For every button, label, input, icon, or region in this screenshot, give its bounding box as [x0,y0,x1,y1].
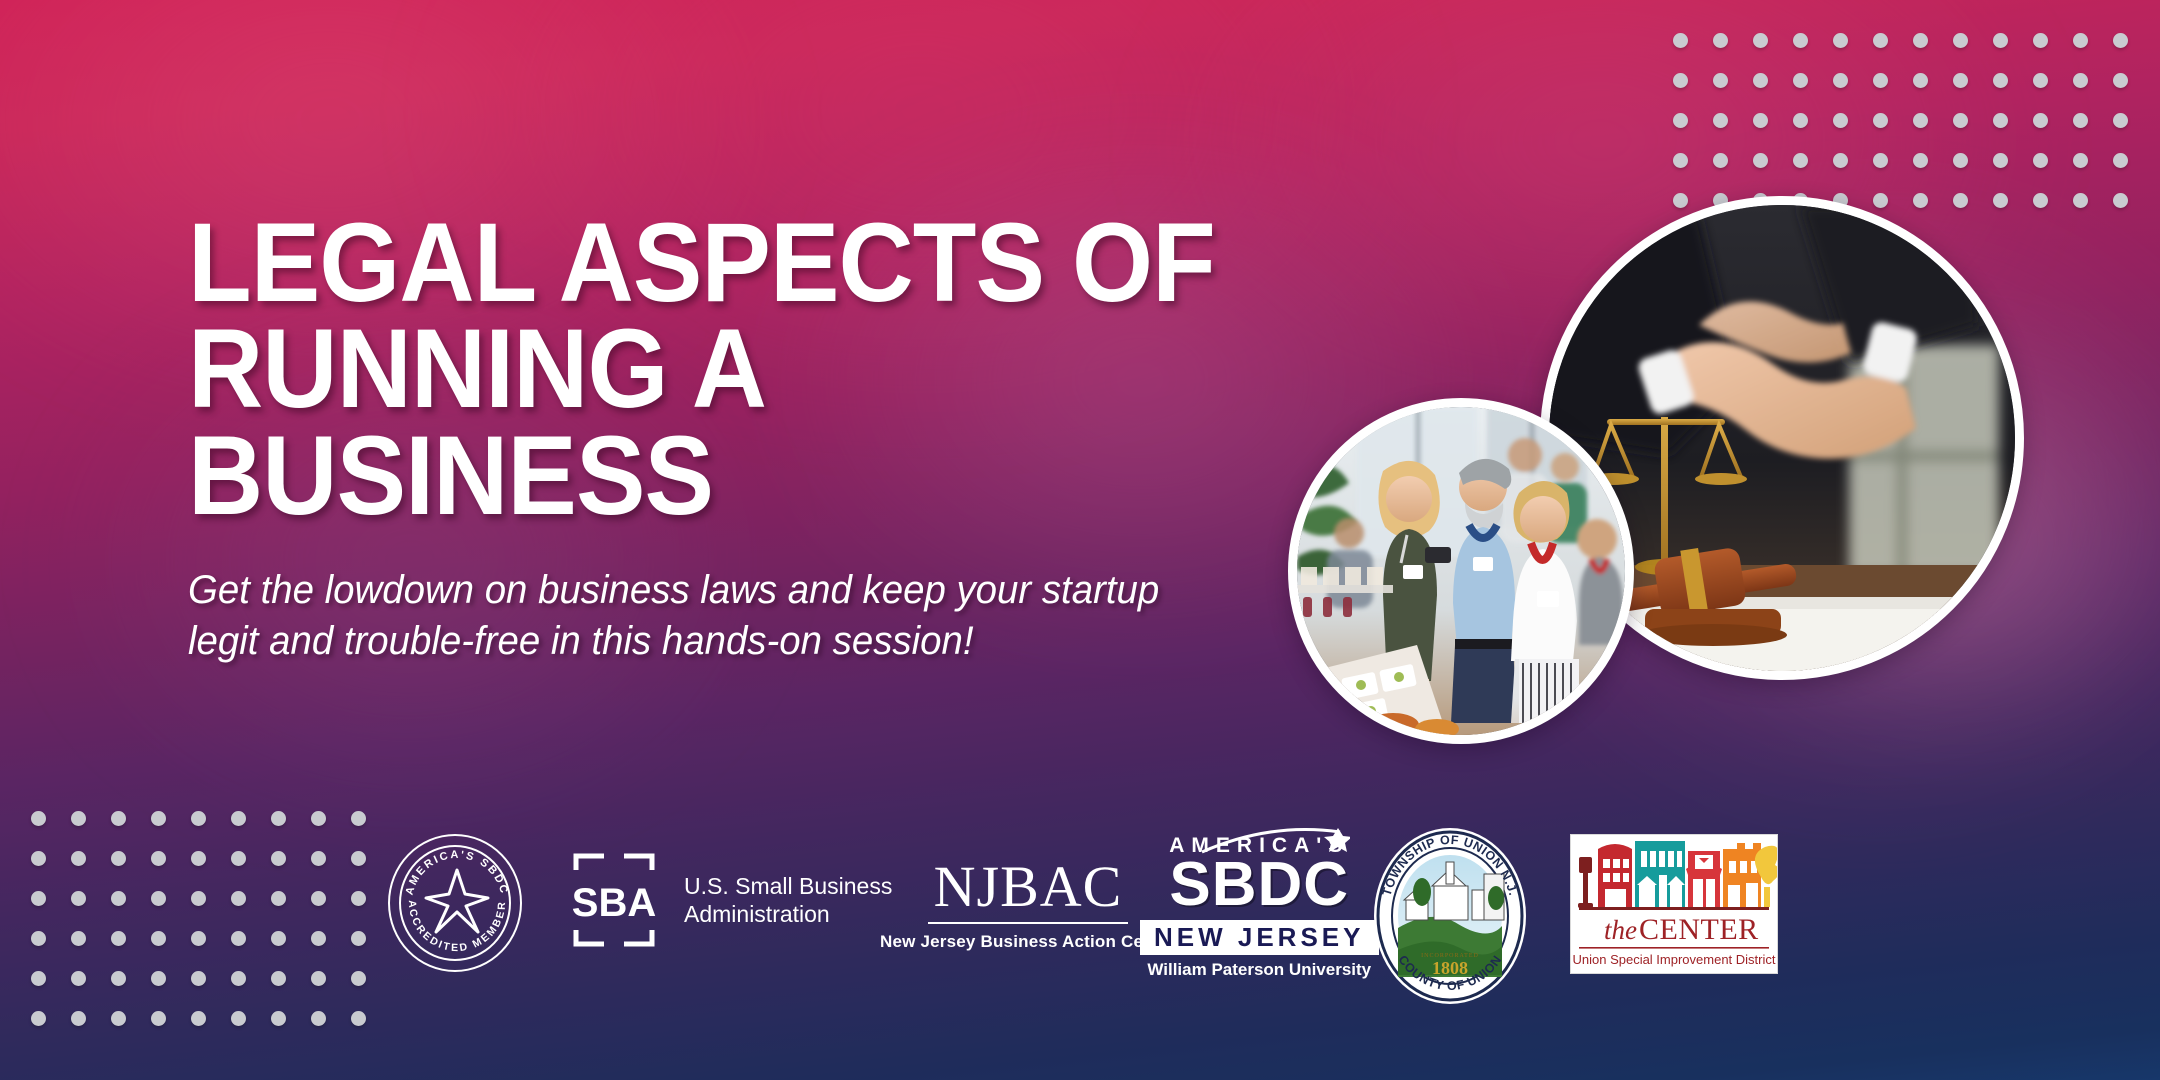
dot [311,811,326,826]
dot [1713,73,1728,88]
sba-bracket-svg: SBA [560,848,668,952]
dot [1953,193,1968,208]
dot [1833,113,1848,128]
sba-mark-icon: SBA [560,848,668,952]
dot [1913,153,1928,168]
dot [71,811,86,826]
logo-njbac: NJBAC New Jersey Business Action Center [880,858,1176,952]
dot [2033,33,2048,48]
dot [1913,33,1928,48]
dot [1673,113,1688,128]
dot [1753,113,1768,128]
dot [1753,153,1768,168]
dot [1793,73,1808,88]
center-the-word: the [1604,915,1637,945]
dot [31,811,46,826]
logo-township-of-union: INCORPORATED 1808 TOWNSHIP OF UNION N.J.… [1372,824,1528,1006]
dot [151,811,166,826]
dot [1993,193,2008,208]
logo-the-center: the CENTER Union Special Improvement Dis… [1570,834,1778,974]
dot [1873,73,1888,88]
dot [351,811,366,826]
dot [2033,113,2048,128]
dot [2073,153,2088,168]
logo-sbdc-accredited-seal: AMERICA'S SBDC ACCREDITED MEMBER [388,836,522,970]
dot [1673,33,1688,48]
dot [311,1011,326,1026]
networking-event-illustration [1297,407,1625,735]
njbac-wordmark: NJBAC [934,858,1123,916]
dot [1833,153,1848,168]
dot [2113,73,2128,88]
seal-arc-bottom: ACCREDITED MEMBER [406,900,508,954]
dot [1753,73,1768,88]
dot [111,811,126,826]
sbdc-star-icon [426,870,488,932]
seal-arc-top: AMERICA'S SBDC [404,849,511,897]
dot [2073,33,2088,48]
building-red-icon [1598,844,1632,907]
dot [1873,33,1888,48]
sbdcnj-wordmark: SBDC [1169,854,1349,916]
dot [1913,193,1928,208]
dot [1793,33,1808,48]
dot [1953,73,1968,88]
dot [271,1011,286,1026]
building-orange-icon [1723,843,1761,907]
dot [1833,73,1848,88]
sbdc-seal-svg: AMERICA'S SBDC ACCREDITED MEMBER [390,836,524,970]
sba-line-1: U.S. Small Business [684,872,892,900]
photo-networking-event [1288,398,1634,744]
dot [2113,33,2128,48]
njbac-subtitle: New Jersey Business Action Center [880,932,1176,952]
event-banner: LEGAL ASPECTS OF RUNNING A BUSINESS Get … [0,0,2160,1080]
partner-logo-strip: AMERICA'S SBDC ACCREDITED MEMBER SBA [0,830,2160,1002]
dot [1713,113,1728,128]
njbac-divider [928,922,1128,924]
dot [2113,193,2128,208]
dot [1953,113,1968,128]
dot [351,1011,366,1026]
dot [2033,153,2048,168]
dot [191,1011,206,1026]
center-subtitle: Union Special Improvement District [1572,952,1775,967]
dot [2033,73,2048,88]
logo-americas-sbdc-new-jersey: AMERICA'S SBDC NEW JERSEY William Paters… [1140,834,1379,980]
dot [1993,33,2008,48]
dot [151,1011,166,1026]
page-title: LEGAL ASPECTS OF RUNNING A BUSINESS [188,210,1341,529]
dot [1953,33,1968,48]
svg-text:ACCREDITED MEMBER: ACCREDITED MEMBER [406,900,508,954]
dot [1793,113,1808,128]
dot [1713,33,1728,48]
dot [2073,193,2088,208]
dot [271,811,286,826]
dot [2113,113,2128,128]
building-teal-icon [1635,841,1685,907]
dot [231,1011,246,1026]
dot [191,811,206,826]
dot [1673,153,1688,168]
the-center-svg: the CENTER Union Special Improvement Dis… [1571,835,1777,973]
dot [1993,153,2008,168]
dot [1753,33,1768,48]
sbdcnj-state-label: NEW JERSEY [1140,920,1379,955]
dot [1953,153,1968,168]
headline-block: LEGAL ASPECTS OF RUNNING A BUSINESS Get … [188,210,1428,668]
sbdc-swoosh-icon [1200,828,1350,856]
dot [71,1011,86,1026]
dot [1873,113,1888,128]
sba-line-2: Administration [684,900,892,928]
dot [1993,113,2008,128]
sba-wordmark: SBA [572,881,656,925]
dot-grid-top-right [1660,20,2140,220]
township-seal-svg: INCORPORATED 1808 TOWNSHIP OF UNION N.J.… [1372,824,1528,1006]
dot [1873,193,1888,208]
dot [2113,153,2128,168]
dot [1913,73,1928,88]
page-subtitle: Get the lowdown on business laws and kee… [188,565,1206,667]
logo-sba: SBA U.S. Small Business Administration [560,848,892,952]
dot [2073,73,2088,88]
dot [231,811,246,826]
dot [1793,153,1808,168]
dot [2073,113,2088,128]
center-wordmark: CENTER [1639,913,1759,946]
dot [31,1011,46,1026]
dot [111,1011,126,1026]
dot [1873,153,1888,168]
dot [1673,193,1688,208]
township-year: 1808 [1432,958,1468,978]
svg-text:AMERICA'S SBDC: AMERICA'S SBDC [404,849,511,897]
dot [1673,73,1688,88]
building-shop-icon [1686,851,1722,907]
sbdcnj-university: William Paterson University [1147,960,1371,980]
dot [1913,113,1928,128]
seal-ring: AMERICA'S SBDC ACCREDITED MEMBER [388,834,522,972]
dot [1993,73,2008,88]
sba-agency-name: U.S. Small Business Administration [684,872,892,928]
dot [2033,193,2048,208]
dot [1713,153,1728,168]
dot [1833,33,1848,48]
